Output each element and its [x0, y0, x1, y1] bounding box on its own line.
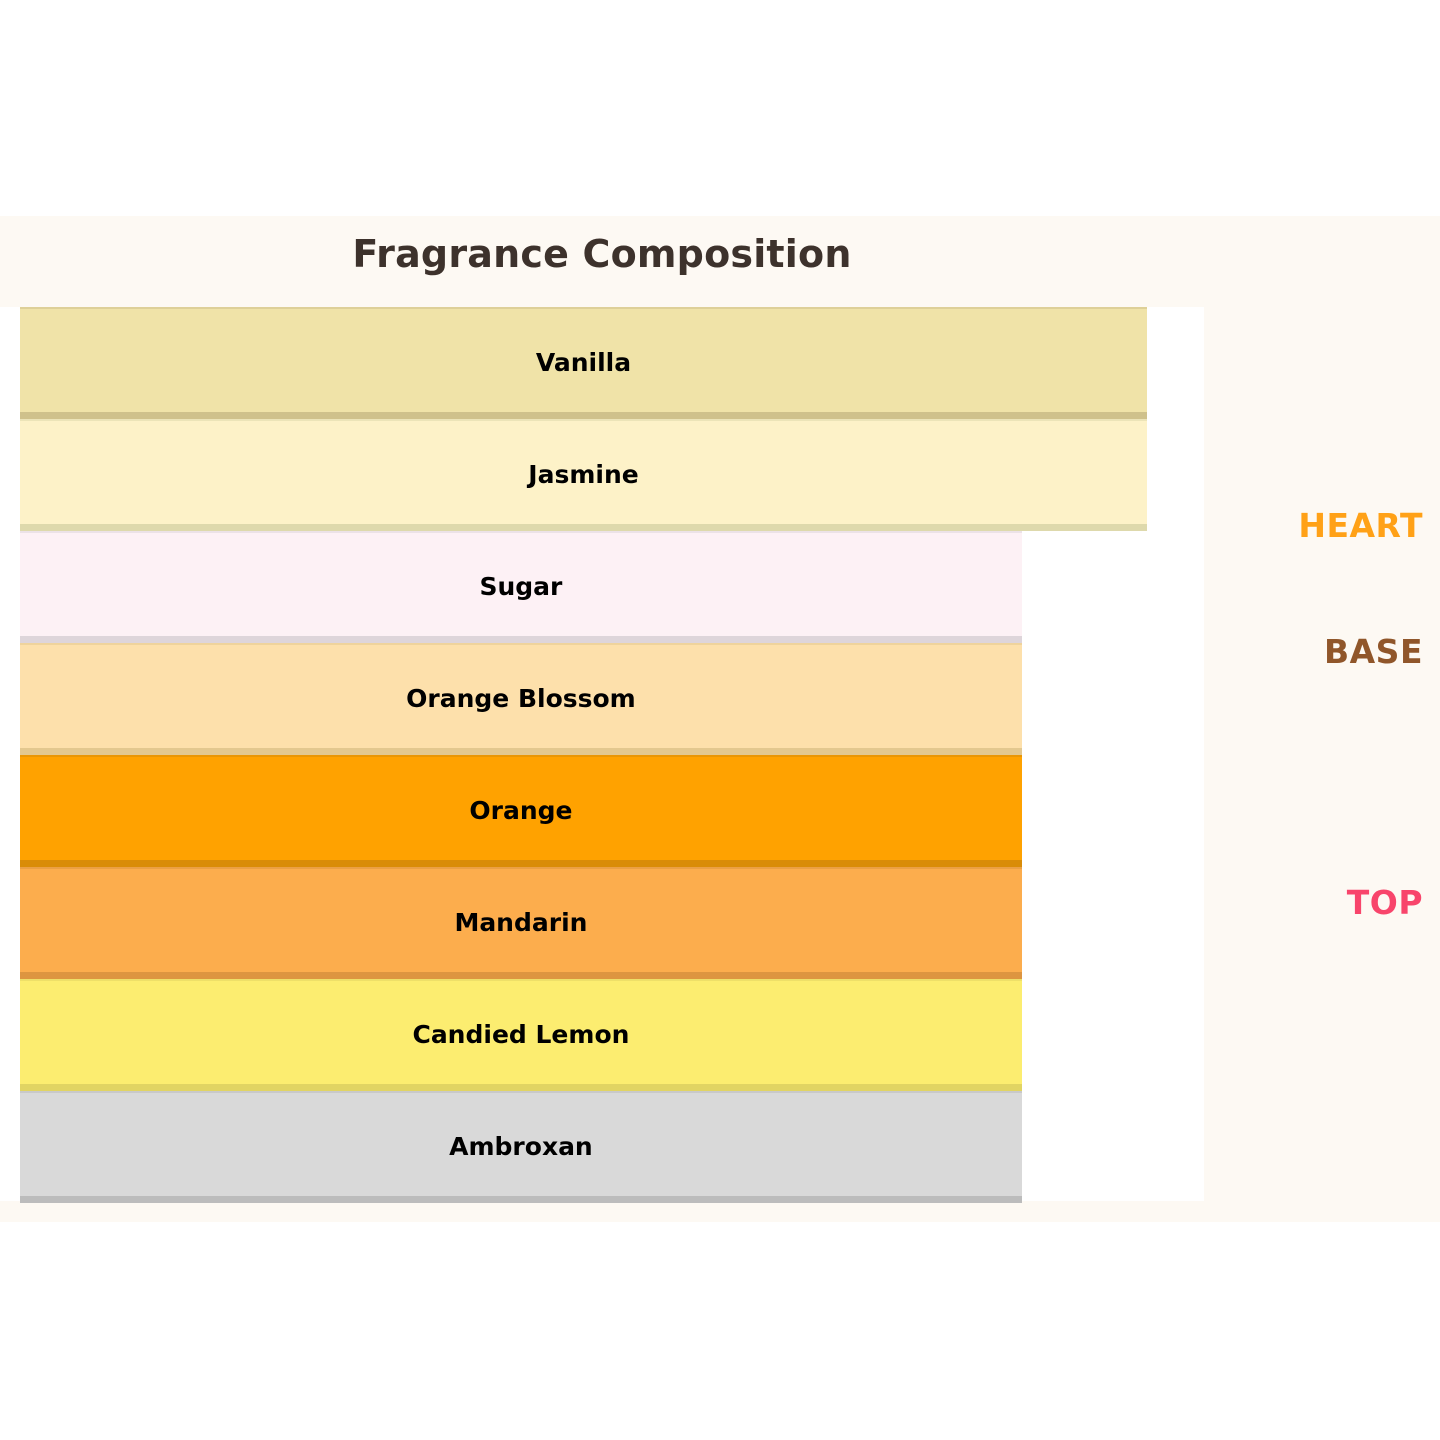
bar-bottom-edge [20, 1196, 1022, 1203]
bar-top-edge [20, 1091, 1022, 1093]
bar-label: Orange [20, 798, 1022, 823]
bar-top-edge [20, 979, 1022, 981]
bar-bottom-edge [20, 748, 1022, 755]
bar-row[interactable]: Mandarin [20, 867, 1022, 979]
bar-label: Mandarin [20, 910, 1022, 935]
annotation-top: TOP [1347, 883, 1423, 922]
bar-label: Sugar [20, 574, 1022, 599]
bar-label: Candied Lemon [20, 1022, 1022, 1047]
bar-row[interactable]: Orange [20, 755, 1022, 867]
bar-top-edge [20, 755, 1022, 757]
bar-row[interactable]: Orange Blossom [20, 643, 1022, 755]
bar-label: Ambroxan [20, 1134, 1022, 1159]
bar-top-edge [20, 531, 1022, 533]
page-title: Fragrance Composition [0, 232, 1204, 276]
bar-bottom-edge [20, 972, 1022, 979]
bar-top-edge [20, 643, 1022, 645]
bar-bottom-edge [20, 636, 1022, 643]
bar-label: Orange Blossom [20, 686, 1022, 711]
plot-area: VanillaJasmineSugarOrange BlossomOrangeM… [0, 307, 1204, 1201]
bar-top-edge [20, 307, 1147, 309]
annotation-base: BASE [1324, 632, 1423, 671]
bar-row[interactable]: Vanilla [20, 307, 1147, 419]
bar-bottom-edge [20, 524, 1147, 531]
bar-row[interactable]: Sugar [20, 531, 1022, 643]
bar-row[interactable]: Candied Lemon [20, 979, 1022, 1091]
bar-bottom-edge [20, 1084, 1022, 1091]
annotation-heart: HEART [1298, 506, 1423, 545]
bar-label: Jasmine [20, 462, 1147, 487]
bar-top-edge [20, 867, 1022, 869]
bar-bottom-edge [20, 412, 1147, 419]
bar-label: Vanilla [20, 350, 1147, 375]
bar-row[interactable]: Ambroxan [20, 1091, 1022, 1203]
bar-top-edge [20, 419, 1147, 421]
chart-figure: Fragrance Composition VanillaJasmineSuga… [0, 216, 1440, 1222]
bar-row[interactable]: Jasmine [20, 419, 1147, 531]
bar-bottom-edge [20, 860, 1022, 867]
